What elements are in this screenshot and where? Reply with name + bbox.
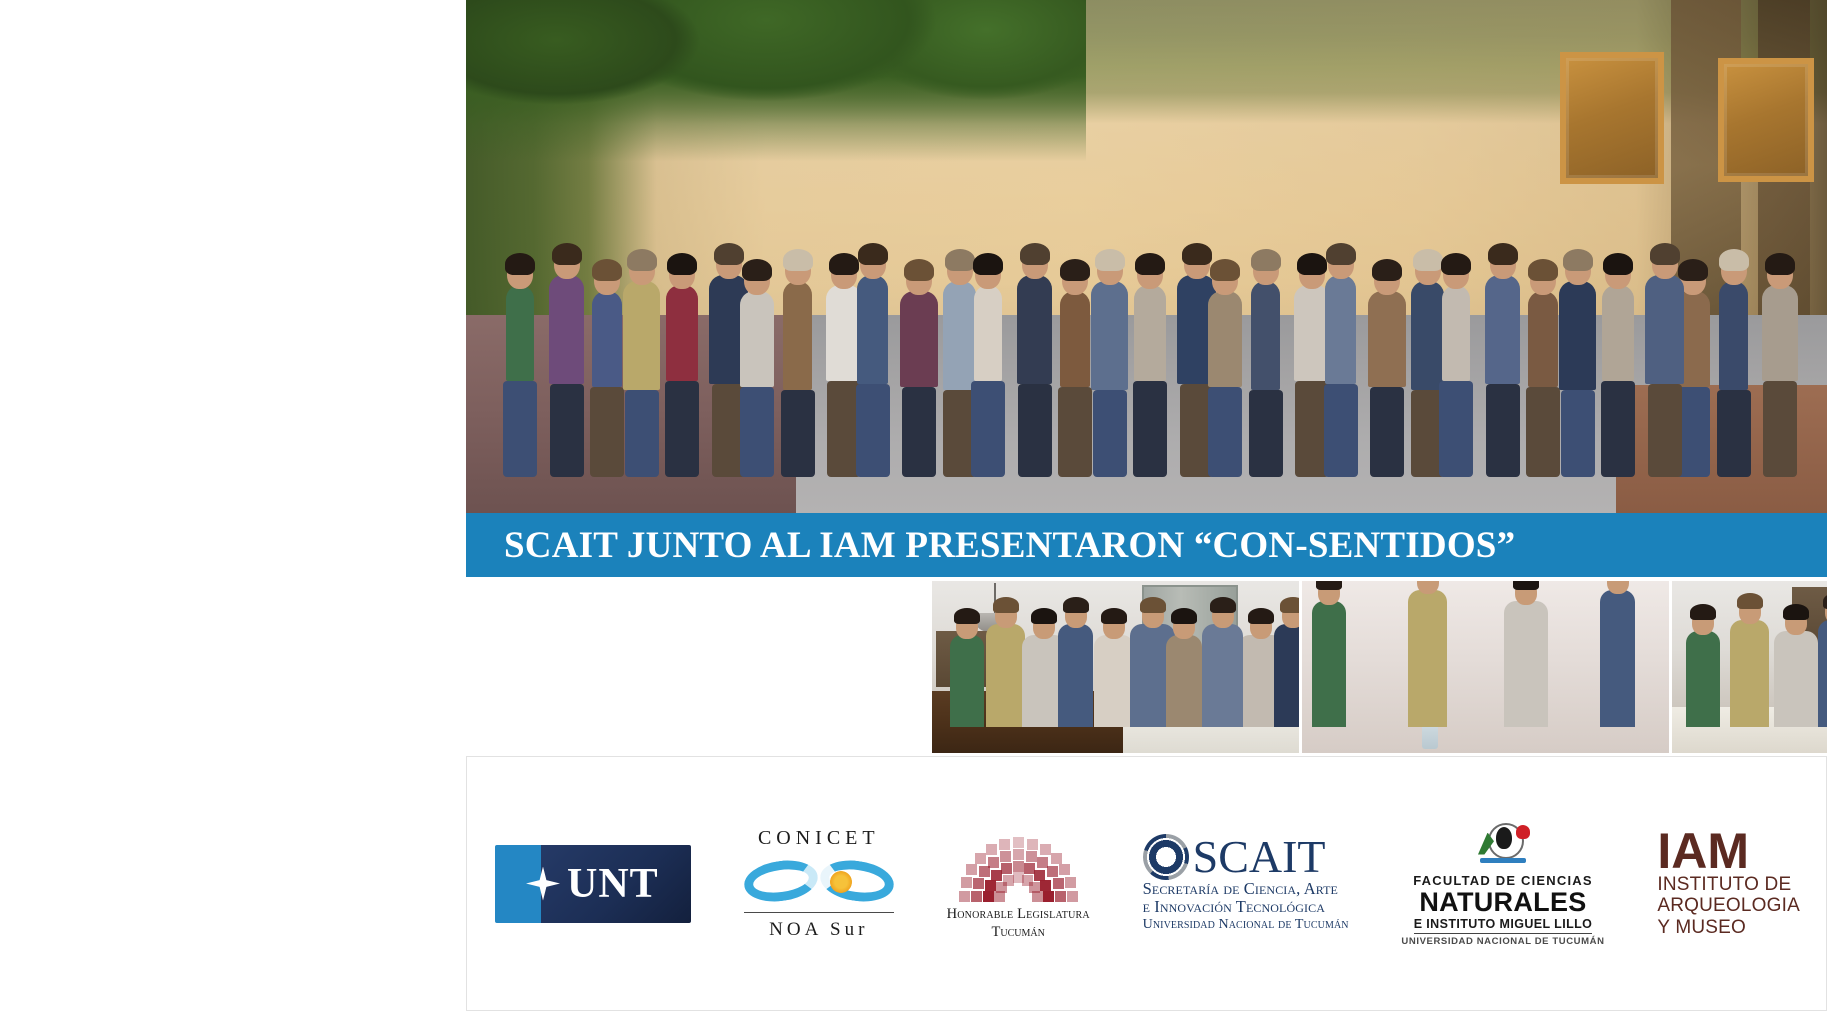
person-hair	[1031, 608, 1057, 624]
person-figure	[1274, 624, 1299, 727]
person-figure	[740, 291, 774, 387]
person-legs	[971, 381, 1005, 477]
person-hair	[1182, 243, 1212, 265]
person-legs	[1058, 387, 1092, 477]
naturales-logo-line4: UNIVERSIDAD NACIONAL DE TUCUMÁN	[1401, 936, 1604, 947]
person-hair	[505, 253, 535, 275]
person-hair	[783, 249, 813, 271]
person-figure	[986, 624, 1025, 727]
person-hair	[1441, 253, 1471, 275]
water-icon	[1480, 858, 1526, 863]
person-legs	[1763, 381, 1797, 477]
left-gutter	[0, 0, 466, 1011]
person-hair	[1280, 597, 1300, 613]
person-hair	[1101, 608, 1127, 624]
person-figure	[783, 281, 812, 390]
person-hair	[1488, 243, 1518, 265]
divider	[744, 912, 894, 913]
person-legs	[1561, 390, 1595, 477]
iam-logo-line1: INSTITUTO DE	[1657, 874, 1791, 895]
flower-icon	[1516, 825, 1530, 839]
arch-tile	[1001, 863, 1012, 874]
person-figure	[1528, 291, 1558, 387]
arch-tile	[1000, 851, 1011, 862]
infinity-icon	[744, 855, 894, 907]
photo-attendees-artifacts	[1672, 581, 1827, 753]
person-legs	[550, 384, 584, 477]
iam-logo-line3: Y MUSEO	[1657, 917, 1746, 938]
arch-tile	[1040, 880, 1051, 891]
arch-tile	[1043, 891, 1054, 902]
person-legs	[740, 387, 774, 477]
person-legs	[1717, 390, 1751, 477]
person-figure	[1166, 635, 1202, 727]
arch-tile	[973, 878, 984, 889]
person-hair	[904, 259, 934, 281]
person-figure	[950, 635, 984, 727]
person-hair	[1316, 581, 1342, 590]
arch-tile	[971, 891, 982, 902]
person-hair	[1765, 253, 1795, 275]
person-figure	[974, 285, 1002, 381]
iam-logo-text: IAM	[1657, 829, 1749, 874]
person-figure	[1058, 624, 1093, 727]
person-legs	[1133, 381, 1167, 477]
person-figure	[1411, 281, 1444, 390]
arch-tile	[1013, 849, 1024, 860]
person-legs	[902, 387, 936, 477]
naturales-logo-line2: NATURALES	[1419, 889, 1586, 916]
scait-logo-line2: e Innovación Tecnológica	[1143, 898, 1325, 916]
unt-logo-text: UNT	[567, 860, 659, 908]
sponsor-logo-bar: UNT CONICET NOA Sur Honorable Legislatur…	[466, 756, 1827, 1011]
person-hair	[1719, 249, 1749, 271]
person-hair	[742, 259, 772, 281]
arch-tile	[1032, 891, 1043, 902]
person-hair	[1690, 604, 1716, 620]
conicet-logo[interactable]: CONICET NOA Sur	[744, 827, 894, 941]
person-legs	[590, 387, 624, 477]
person-hair	[592, 259, 622, 281]
scait-swirl-icon	[1143, 834, 1189, 880]
person-figure	[1600, 590, 1635, 727]
person-legs	[856, 384, 890, 477]
bird-icon	[1496, 827, 1512, 849]
person-figure	[1730, 620, 1769, 727]
arch-tile	[1040, 844, 1051, 855]
person-figure	[1818, 620, 1827, 727]
arch-tile	[966, 864, 977, 875]
person-figure	[592, 291, 622, 387]
person-legs	[503, 381, 537, 477]
arch-mosaic-icon	[959, 827, 1077, 901]
person-hair	[1063, 597, 1089, 613]
person-hair	[858, 243, 888, 265]
legislatura-logo-line2: Tucumán	[992, 924, 1045, 941]
person-hair	[1413, 249, 1443, 271]
person-hair	[1140, 597, 1166, 613]
legislatura-logo-line1: Honorable Legislatura	[947, 906, 1090, 923]
person-legs	[1370, 387, 1404, 477]
honorable-legislatura-tucuman-logo[interactable]: Honorable Legislatura Tucumán	[947, 827, 1090, 941]
arch-tile	[1055, 891, 1066, 902]
arch-tile	[986, 844, 997, 855]
person-figure	[1312, 601, 1346, 727]
person-legs	[1439, 381, 1473, 477]
person-hair	[1563, 249, 1593, 271]
person-legs	[1018, 384, 1052, 477]
person-hair	[829, 253, 859, 275]
person-legs	[1249, 390, 1283, 477]
person-figure	[1251, 281, 1280, 390]
person-figure	[506, 285, 534, 381]
arch-tile	[988, 857, 999, 868]
person-hair	[552, 243, 582, 265]
scait-logo-text: SCAIT	[1193, 835, 1326, 879]
person-figure	[549, 275, 584, 384]
page-root: SCAIT JUNTO AL IAM PRESENTARON “CON-SENT…	[0, 0, 1827, 1011]
person-figure	[1645, 275, 1684, 384]
unt-logo-mark: UNT	[495, 845, 691, 923]
scait-logo[interactable]: SCAIT Secretaría de Ciencia, Arte e Inno…	[1143, 834, 1349, 933]
person-figure	[1504, 601, 1548, 727]
person-figure	[943, 281, 976, 390]
arch-tile	[1027, 839, 1038, 850]
arch-tile	[994, 891, 1005, 902]
person-figure	[1368, 291, 1406, 387]
person-hair	[714, 243, 744, 265]
hero-people-group	[466, 117, 1827, 477]
person-figure	[623, 281, 660, 390]
person-figure	[1017, 275, 1052, 384]
arch-tile	[985, 880, 996, 891]
person-figure	[900, 291, 938, 387]
naturales-logo-line1: FACULTAD DE CIENCIAS	[1413, 873, 1593, 888]
photo-audience-museum-room	[932, 581, 1299, 753]
arch-tile	[1051, 853, 1062, 864]
arch-tile	[1013, 837, 1024, 848]
person-figure	[1485, 275, 1520, 384]
infinity-left-loop	[741, 856, 820, 906]
person-legs	[1208, 387, 1242, 477]
person-legs	[625, 390, 659, 477]
person-figure	[1559, 281, 1596, 390]
arch-tile	[999, 839, 1010, 850]
person-figure	[1602, 285, 1634, 381]
person-figure	[1442, 285, 1470, 381]
scait-logo-wordmark: SCAIT	[1143, 834, 1326, 880]
iam-logo[interactable]: IAM INSTITUTO DE ARQUEOLOGIA Y MUSEO	[1657, 829, 1800, 938]
page-title: SCAIT JUNTO AL IAM PRESENTARON “CON-SENT…	[466, 524, 1515, 567]
person-hair	[667, 253, 697, 275]
person-legs	[1486, 384, 1520, 477]
person-hair	[1135, 253, 1165, 275]
person-hair	[1678, 259, 1708, 281]
person-figure	[857, 275, 888, 384]
person-figure	[1060, 291, 1090, 387]
person-hair	[1095, 249, 1125, 271]
person-hair	[945, 249, 975, 271]
person-hair	[1326, 243, 1356, 265]
unt-logo[interactable]: UNT	[495, 845, 691, 923]
scait-logo-line3: Universidad Nacional de Tucumán	[1143, 917, 1349, 933]
person-hair	[1210, 597, 1236, 613]
headline-banner: SCAIT JUNTO AL IAM PRESENTARON “CON-SENT…	[466, 513, 1827, 577]
sun-icon	[830, 871, 852, 893]
arch-tile	[975, 853, 986, 864]
person-hair	[1737, 593, 1763, 609]
person-hair	[1783, 604, 1809, 620]
person-hair	[1297, 253, 1327, 275]
person-hair	[627, 249, 657, 271]
globe-bird-icon	[1474, 821, 1532, 871]
person-hair	[1210, 259, 1240, 281]
unt-logo-right-block: UNT	[541, 845, 691, 923]
person-hair	[973, 253, 1003, 275]
person-figure	[1208, 291, 1242, 387]
person-figure	[1325, 275, 1356, 384]
person-hair	[1251, 249, 1281, 271]
arch-tile	[983, 891, 994, 902]
person-hair	[1650, 243, 1680, 265]
person-figure	[1774, 631, 1818, 727]
iam-logo-line2: ARQUEOLOGIA	[1657, 895, 1800, 916]
arch-tile	[959, 891, 970, 902]
scait-logo-line1: Secretaría de Ciencia, Arte	[1143, 880, 1338, 898]
person-hair	[993, 597, 1019, 613]
person-hair	[1248, 608, 1274, 624]
arch-tile	[1059, 864, 1070, 875]
person-hair	[1513, 581, 1539, 590]
person-legs	[1093, 390, 1127, 477]
arch-tile	[1053, 878, 1064, 889]
person-hair	[1020, 243, 1050, 265]
person-figure	[1094, 635, 1134, 727]
person-head	[1607, 581, 1629, 594]
person-legs	[665, 381, 699, 477]
person-hair	[954, 608, 980, 624]
person-figure	[1134, 285, 1166, 381]
person-legs	[1601, 381, 1635, 477]
arch-tile	[1047, 866, 1058, 877]
conicet-logo-title: CONICET	[758, 827, 880, 850]
naturales-logo-line3: E INSTITUTO MIGUEL LILLO	[1414, 917, 1593, 934]
photo-strip	[932, 581, 1827, 753]
photo-panel-speakers	[1302, 581, 1669, 753]
person-hair	[1060, 259, 1090, 281]
arch-tile	[961, 877, 972, 888]
person-figure	[1202, 624, 1243, 727]
person-hair	[1528, 259, 1558, 281]
person-figure	[1719, 281, 1748, 390]
person-head	[1417, 581, 1439, 594]
arch-tile	[1065, 877, 1076, 888]
person-legs	[781, 390, 815, 477]
arch-tile	[1067, 891, 1078, 902]
person-figure	[666, 285, 698, 381]
person-hair	[1372, 259, 1402, 281]
person-legs	[1648, 384, 1682, 477]
person-figure	[1408, 590, 1447, 727]
person-figure	[1686, 631, 1720, 727]
person-figure	[1091, 281, 1128, 390]
arch-tile	[1026, 851, 1037, 862]
hero-photo	[466, 0, 1827, 515]
person-hair	[1171, 608, 1197, 624]
facultad-ciencias-naturales-logo[interactable]: FACULTAD DE CIENCIAS NATURALES E INSTITU…	[1401, 821, 1604, 947]
person-legs	[1526, 387, 1560, 477]
conicet-logo-subtitle: NOA Sur	[769, 919, 868, 941]
person-legs	[1324, 384, 1358, 477]
person-hair	[1603, 253, 1633, 275]
person-figure	[1762, 285, 1798, 381]
arch-tile	[1013, 861, 1024, 872]
